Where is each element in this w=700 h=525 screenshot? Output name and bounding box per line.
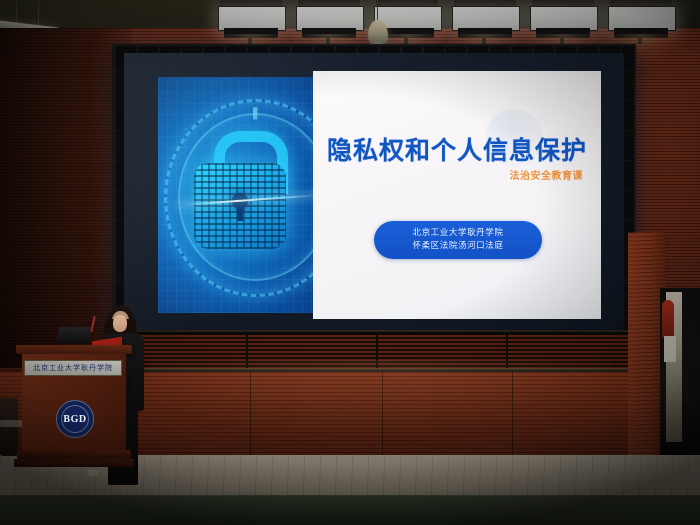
podium-sign-text: 北京工业大学耿丹学院 — [33, 363, 113, 373]
wall-seam-2 — [250, 372, 251, 464]
louver-panel-3 — [378, 335, 508, 371]
wall-seam-4 — [512, 372, 513, 464]
fluorescent-wire — [38, 0, 39, 28]
slide-subtitle: 法治安全教育课 — [510, 167, 584, 182]
light-housing — [224, 28, 278, 38]
stage-light-2 — [296, 0, 362, 40]
stage-light-4 — [452, 0, 518, 40]
podium-top-surface — [16, 345, 132, 354]
laptop-on-podium — [57, 327, 91, 343]
light-housing — [380, 28, 434, 38]
louver-panel-2 — [248, 335, 378, 371]
slide-footer-line-2: 怀柔区法院汤河口法庭 — [412, 240, 503, 253]
emblem-text: BGD — [63, 414, 86, 425]
chair-seat — [0, 420, 22, 427]
slide-graphic-panel — [158, 77, 313, 313]
chair — [0, 398, 18, 456]
dome-fixture-wire — [377, 0, 378, 22]
podium: 北京工业大学耿丹学院 BGD — [22, 345, 126, 475]
light-housing — [614, 28, 668, 38]
slide-footer-pill: 北京工业大学耿丹学院 怀柔区法院汤河口法庭 — [374, 221, 542, 259]
podium-name-plate: 北京工业大学耿丹学院 — [24, 360, 122, 376]
university-emblem: BGD — [56, 400, 94, 438]
louver-panel-4 — [508, 335, 632, 371]
lecture-hall-photo: 隐私权和个人信息保护 法治安全教育课 北京工业大学耿丹学院 怀柔区法院汤河口法庭 — [0, 0, 700, 525]
podium-foot — [14, 459, 134, 467]
slide-text-panel: 隐私权和个人信息保护 法治安全教育课 北京工业大学耿丹学院 怀柔区法院汤河口法庭 — [313, 71, 601, 319]
stage-light-1 — [218, 0, 284, 40]
slide-title: 隐私权和个人信息保护 — [327, 131, 587, 167]
fluorescent-wire-second — [16, 0, 17, 22]
presenter-face — [113, 315, 127, 332]
light-housing — [458, 28, 512, 38]
screen-display-area: 隐私权和个人信息保护 法治安全教育课 北京工业大学耿丹学院 怀柔区法院汤河口法庭 — [124, 53, 624, 334]
stage-front-edge — [0, 495, 700, 525]
alcove-red-object — [662, 300, 674, 338]
led-display-screen: 隐私权和个人信息保护 法治安全教育课 北京工业大学耿丹学院 怀柔区法院汤河口法庭 — [112, 44, 636, 343]
alcove-white-object — [664, 336, 676, 362]
light-housing — [536, 28, 590, 38]
slide-footer-line-1: 北京工业大学耿丹学院 — [412, 227, 503, 240]
light-housing — [302, 28, 356, 38]
light-mount — [638, 38, 642, 44]
stage-light-5 — [530, 0, 596, 40]
wall-seam-3 — [382, 372, 383, 464]
podium-base — [17, 450, 131, 459]
podium-front-face: 北京工业大学耿丹学院 BGD — [22, 354, 126, 450]
stage-light-6 — [608, 0, 674, 40]
